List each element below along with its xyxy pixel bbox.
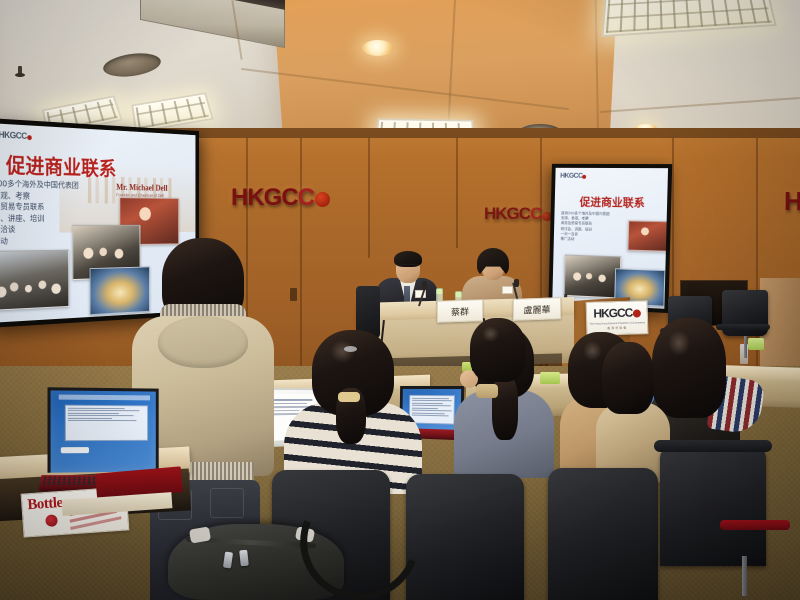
slide-bullet: 一对一洽谈 xyxy=(0,225,79,236)
slide-logo-text: HKGCC xyxy=(0,130,27,141)
secondary-photo-delegates xyxy=(564,255,622,299)
wall-logo-text-2: HKGC xyxy=(484,204,530,223)
slide-bullet: 商务及贸易专员联系 xyxy=(0,202,79,213)
slide-bullet: 研讨会、讲座、培训 xyxy=(0,214,79,225)
ceiling-seam xyxy=(241,68,569,110)
conference-room-photo: HKGCC HKGCC H HKGCC 促进商业联系 接待200多个海外及中国代… xyxy=(0,0,800,600)
wall-logo-text-3: H xyxy=(784,186,800,216)
podium-sign-logo: HKGCC xyxy=(593,305,640,320)
wall-logo-secondary: HKGCC xyxy=(484,204,552,224)
secondary-slide-title: 促进商业联系 xyxy=(579,194,645,211)
laptop-titlebar xyxy=(59,395,150,401)
office-chair-foreground[interactable] xyxy=(660,446,766,566)
slide-photo-group xyxy=(0,250,69,311)
downlight-icon xyxy=(362,40,394,56)
attendee-striped-collar xyxy=(338,392,360,402)
zipper-pull-icon[interactable] xyxy=(239,550,249,567)
podium-sign-logo-text: HKGCC xyxy=(593,306,632,321)
wall-logo-dot xyxy=(315,192,330,207)
door-handle[interactable] xyxy=(290,288,297,301)
slide-logo-dot xyxy=(27,135,32,141)
attendee-front-left-partial xyxy=(470,318,526,388)
wall-logo-text: HKGC xyxy=(231,184,298,211)
standing-person-hood xyxy=(158,316,248,368)
wall-logo-c: C xyxy=(298,184,314,211)
secondary-projection-screen[interactable]: HKGCC 促进商业联系 接待200多个海外及中国代表团 安排、参观、考察 商务… xyxy=(548,164,672,313)
magazine-graphic xyxy=(45,514,58,527)
secondary-slide-bullet: 推广活动 xyxy=(560,237,609,244)
slide-photo-caption-role: Founder and Chairman of Dell xyxy=(116,192,164,197)
laptop-red-screen xyxy=(47,387,158,472)
secondary-slide-logo: HKGCC xyxy=(560,173,586,180)
microphone-icon xyxy=(514,279,519,287)
slide-title: 促进商业联系 xyxy=(6,150,116,183)
attendee-beige-hair xyxy=(602,342,654,414)
podium-hkgcc-sign: HKGCC The Hong Kong General Chamber of C… xyxy=(586,300,649,336)
wall-logo-c-2: C xyxy=(530,204,541,223)
office-chair-foreground[interactable] xyxy=(548,468,658,600)
wall-logo-primary: HKGCC xyxy=(231,184,330,212)
wall-panel-seam xyxy=(368,138,370,258)
speaker-right-name-badge xyxy=(502,286,513,294)
laptop-red-document xyxy=(65,405,148,441)
secondary-slide-logo-text: HKGCC xyxy=(560,173,582,180)
secondary-slide-bullets: 接待200多个海外及中国代表团 安排、参观、考察 商务及贸易专员联系 研讨会、讲… xyxy=(560,211,609,243)
attendee-striped-top xyxy=(276,330,422,490)
glasses-icon xyxy=(398,264,418,268)
microphone-icon xyxy=(422,281,427,289)
office-chair-leg xyxy=(742,556,747,596)
slide-bullet: 安排参观、考察 xyxy=(0,190,79,202)
slide-bullet: 推广活动 xyxy=(0,236,79,247)
office-chair-foreground[interactable] xyxy=(406,474,524,600)
jeans-pocket xyxy=(210,488,244,518)
slide-logo: HKGCC xyxy=(0,130,32,142)
office-chair-armrest xyxy=(654,440,772,452)
laptop-taskbar-item[interactable] xyxy=(61,447,89,453)
podium-sign-subtitle-cn: 香港总商會 xyxy=(607,326,627,331)
wall-panel-seam xyxy=(456,138,458,248)
sprinkler-icon xyxy=(18,66,22,75)
slide-photo-caption-name: Mr. Michael Dell xyxy=(116,182,167,192)
attendee-front-left-hair xyxy=(470,318,526,382)
slide-bullet-list: 接待200多个海外及中国代表团 安排参观、考察 商务及贸易专员联系 研讨会、讲座… xyxy=(0,179,79,249)
podium-sign-dot xyxy=(632,309,640,317)
secondary-photo-dell xyxy=(627,220,668,251)
hair-tie xyxy=(344,346,357,352)
chair-seat-red xyxy=(720,520,790,530)
secondary-slide-logo-dot xyxy=(582,175,586,179)
magazine-title: Bottle xyxy=(27,495,63,514)
secondary-screen-surface: HKGCC 促进商业联系 接待200多个海外及中国代表团 安排、参观、考察 商务… xyxy=(552,168,668,309)
slide-bullet: 接待200多个海外及中国代表团 xyxy=(0,179,79,192)
wall-logo-edge: H xyxy=(784,186,800,217)
